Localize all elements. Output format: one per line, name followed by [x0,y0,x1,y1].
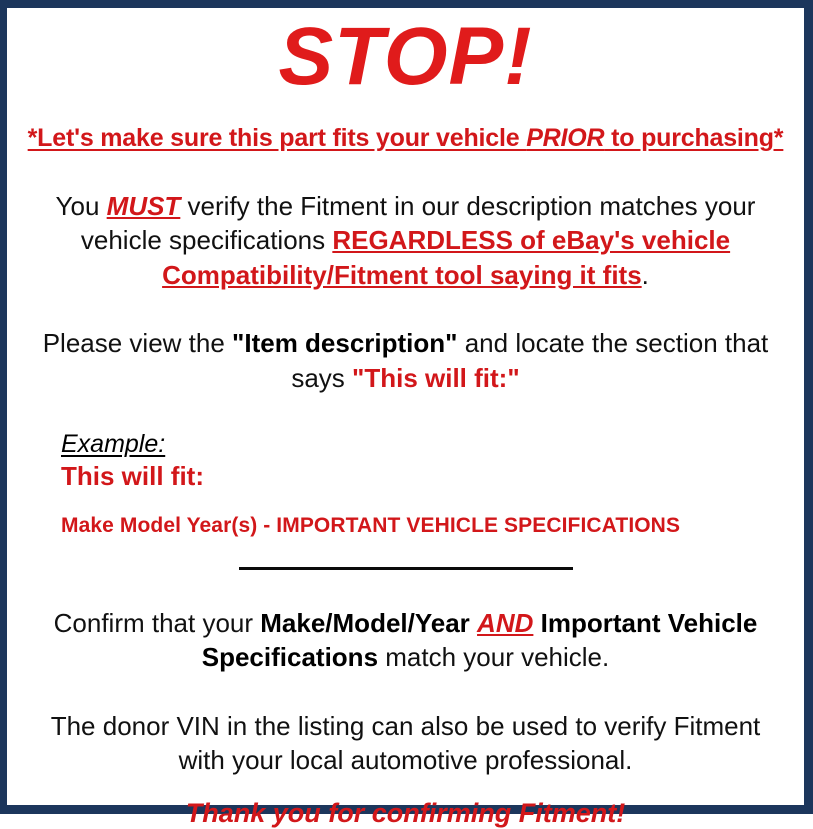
fitment-notice-card: STOP! *Let's make sure this part fits yo… [0,0,813,814]
confirm-seg-2 [470,608,477,638]
item-description-emphasis: "Item description" [232,328,457,358]
thank-you-line: Thank you for confirming Fitment! [17,798,794,829]
itemdesc-seg-1: Please view the [43,328,232,358]
stop-heading: STOP! [17,8,794,98]
subtitle-text-after: to purchasing* [604,124,783,152]
confirm-seg-3 [533,608,540,638]
subtitle-text-before: *Let's make sure this part fits your veh… [28,124,527,152]
item-description-paragraph: Please view the "Item description" and l… [17,326,794,395]
example-label: Example: [61,430,165,459]
this-will-fit-quote: "This will fit:" [352,363,520,393]
example-this-will-fit: This will fit: [61,461,794,492]
donor-vin-paragraph: The donor VIN in the listing can also be… [17,709,794,778]
subtitle-line: *Let's make sure this part fits your veh… [17,124,794,153]
section-divider [239,567,573,570]
example-block: Example: This will fit: Make Model Year(… [17,430,794,538]
must-verify-paragraph: You MUST verify the Fitment in our descr… [17,189,794,293]
and-emphasis: AND [477,608,533,638]
confirm-paragraph: Confirm that your Make/Model/Year AND Im… [17,606,794,675]
example-label-row: Example: [61,430,794,459]
must-emphasis: MUST [107,191,181,221]
must-seg-3: . [642,260,649,290]
example-spec-line: Make Model Year(s) - IMPORTANT VEHICLE S… [61,514,794,538]
confirm-seg-1: Confirm that your [54,608,261,638]
must-seg-1: You [56,191,107,221]
subtitle-prior-emphasis: PRIOR [526,124,604,152]
confirm-seg-4: match your vehicle. [378,642,609,672]
make-model-year-emphasis: Make/Model/Year [260,608,470,638]
divider-wrap [17,560,794,578]
